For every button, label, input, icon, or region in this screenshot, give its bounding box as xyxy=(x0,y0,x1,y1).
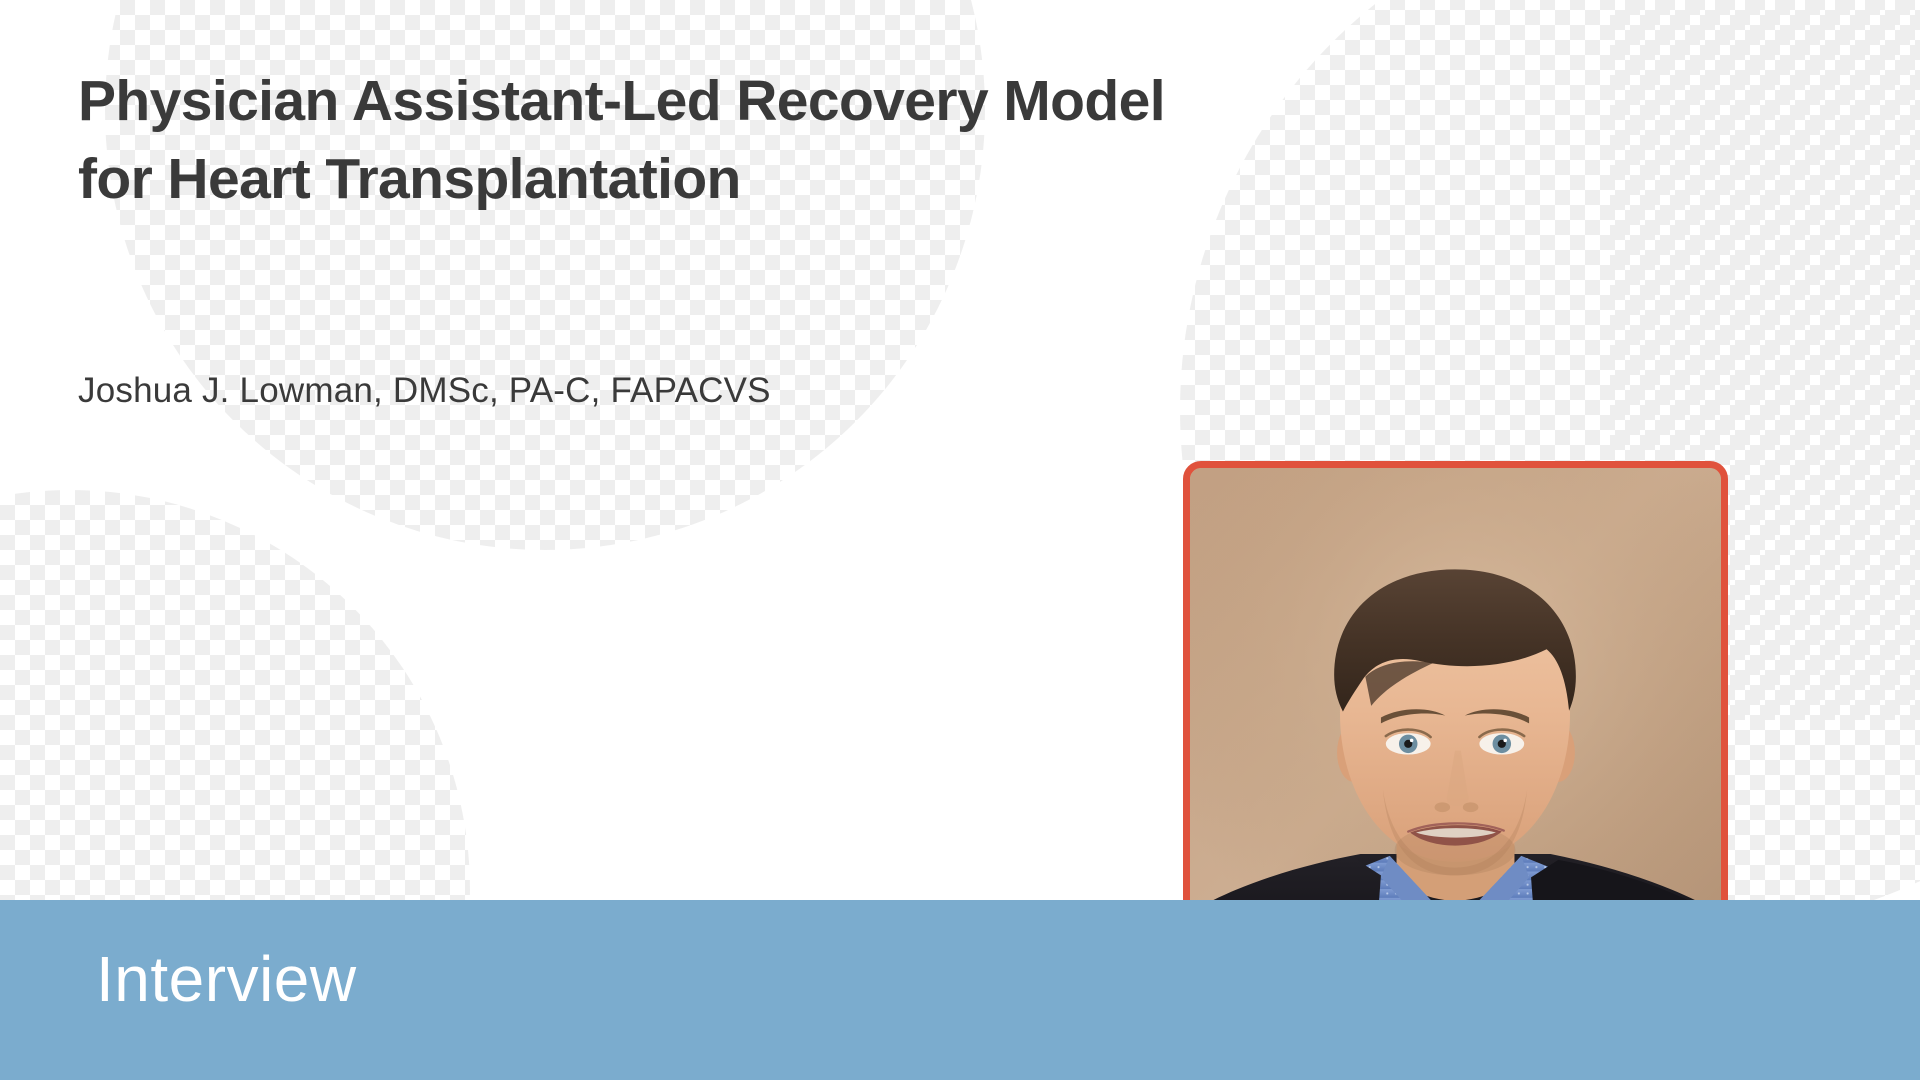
category-band: Interview xyxy=(0,900,1920,1080)
slide-title: Physician Assistant-Led Recovery Model f… xyxy=(78,62,1258,218)
author-byline: Joshua J. Lowman, DMSc, PA-C, FAPACVS xyxy=(78,370,771,412)
presentation-slide: Physician Assistant-Led Recovery Model f… xyxy=(0,0,1920,1080)
category-label: Interview xyxy=(96,947,357,1011)
